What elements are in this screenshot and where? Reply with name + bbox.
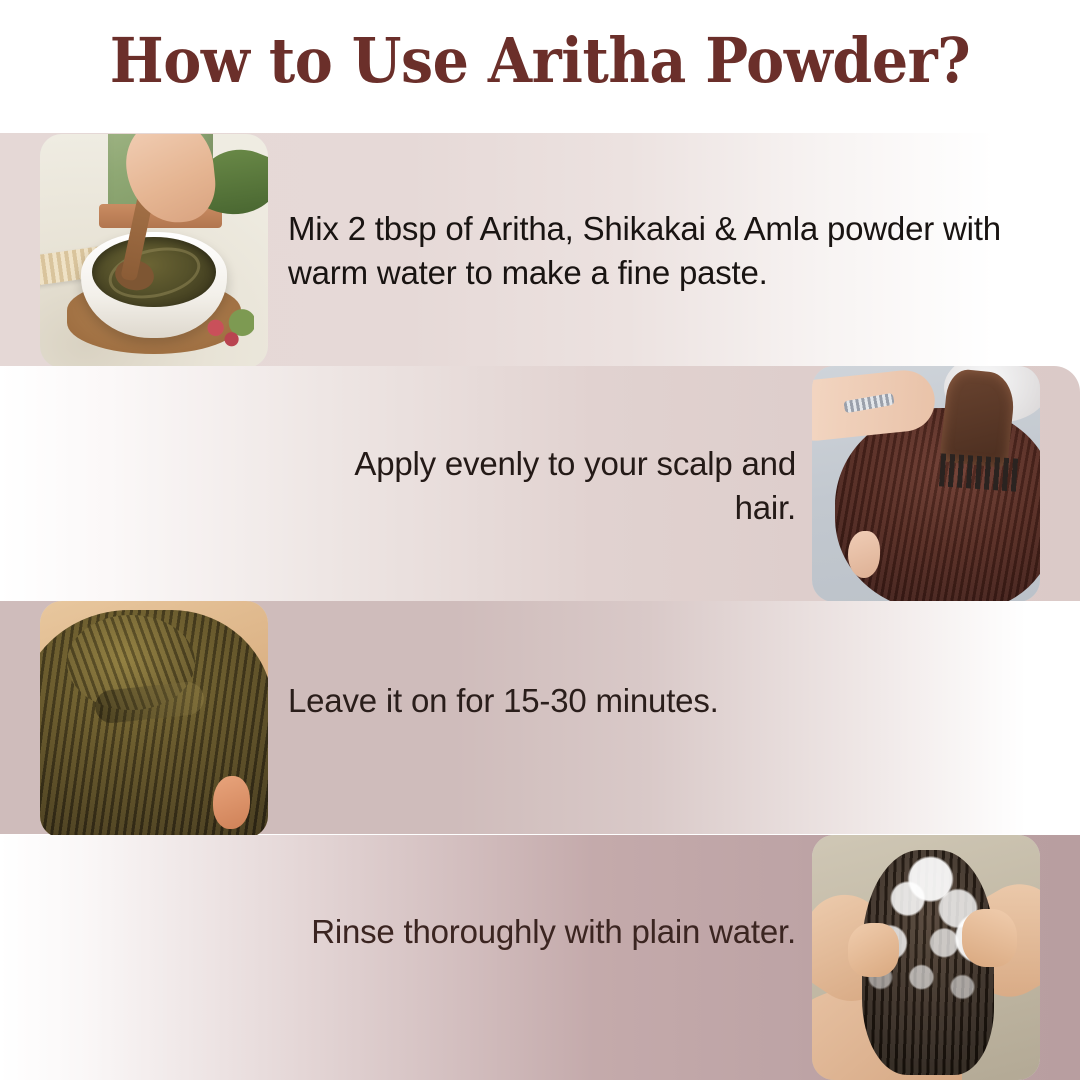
- brush-teeth-shape: [939, 453, 1019, 491]
- ear-shape: [213, 776, 249, 828]
- left-hand-shape: [848, 923, 898, 977]
- berry-sprig-shape: [195, 307, 254, 358]
- step-image-4: [812, 835, 1040, 1080]
- step-text-3: Leave it on for 15-30 minutes.: [288, 679, 808, 723]
- step-text-4: Rinse thoroughly with plain water.: [290, 910, 796, 954]
- step-text-2: Apply evenly to your scalp and hair.: [290, 442, 796, 530]
- step-text-1: Mix 2 tbsp of Aritha, Shikakai & Amla po…: [288, 207, 1008, 295]
- step-image-1: [40, 134, 268, 368]
- infographic-page: How to Use Aritha Powder? Mix 2 tbsp of …: [0, 0, 1080, 1080]
- step-image-3: [40, 601, 268, 838]
- right-hand-shape: [962, 909, 1017, 968]
- step-image-2: [812, 366, 1040, 602]
- page-title: How to Use Aritha Powder?: [43, 24, 1037, 98]
